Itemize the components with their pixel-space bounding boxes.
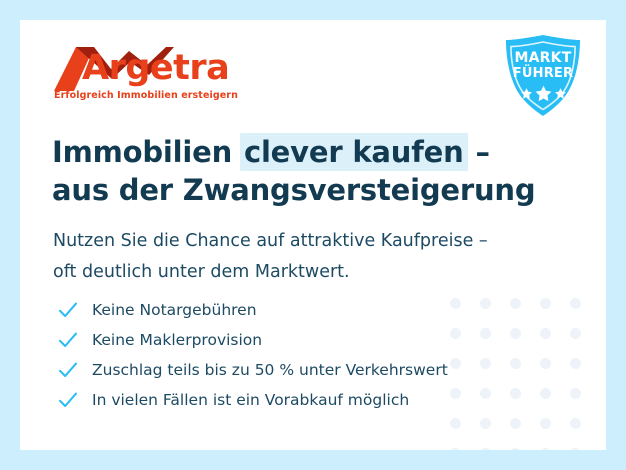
benefit-item: Zuschlag teils bis zu 50 % unter Verkehr… [58,360,448,380]
decoration-dot [540,448,551,459]
headline-text-before: Immobilien [52,135,242,169]
decoration-dot [480,298,491,309]
decoration-dot [480,388,491,399]
decoration-dot [480,358,491,369]
decoration-dot [450,358,461,369]
check-icon [58,332,78,348]
sub-copy-line-1: Nutzen Sie die Chance auf attraktive Kau… [53,226,488,257]
decoration-dot [570,448,581,459]
decoration-dot [510,328,521,339]
benefit-label: Keine Maklerprovision [92,330,262,350]
logo-wordmark: Argetra [82,45,229,91]
headline-text-after: – [466,135,490,169]
benefit-item: In vielen Fällen ist ein Vorabkauf mögli… [58,390,448,410]
logo-mark: Argetra [54,45,254,91]
decoration-dot [540,328,551,339]
decoration-dot [570,298,581,309]
decoration-dot [480,418,491,429]
sub-copy-line-2: oft deutlich unter dem Marktwert. [53,257,488,288]
decoration-dot [480,448,491,459]
decoration-dot [510,388,521,399]
decoration-dot [540,358,551,369]
check-icon [58,302,78,318]
dot-grid-decoration [450,298,600,470]
decoration-dot [480,328,491,339]
benefit-label: Zuschlag teils bis zu 50 % unter Verkehr… [92,360,448,380]
shield-icon [502,34,584,118]
decoration-dot [540,418,551,429]
check-icon [58,392,78,408]
benefits-list: Keine NotargebührenKeine Maklerprovision… [58,300,448,410]
headline-highlight: clever kaufen [240,133,468,171]
decoration-dot [510,448,521,459]
decoration-dot [450,388,461,399]
headline-line-2: aus der Zwangsversteigerung [52,171,535,209]
check-icon [58,362,78,378]
decoration-dot [570,388,581,399]
headline: Immobilien clever kaufen – aus der Zwang… [52,133,535,209]
market-leader-badge: MARKT FÜHRER [502,34,584,118]
decoration-dot [570,418,581,429]
decoration-dot [450,328,461,339]
decoration-dot [540,298,551,309]
decoration-dot [510,358,521,369]
decoration-dot [450,298,461,309]
decoration-dot [570,358,581,369]
decoration-dot [510,298,521,309]
headline-line-1: Immobilien clever kaufen – [52,133,535,171]
decoration-dot [510,418,521,429]
decoration-dot [450,448,461,459]
decoration-dot [540,388,551,399]
benefit-item: Keine Maklerprovision [58,330,448,350]
promo-banner: Argetra Erfolgreich Immobilien ersteiger… [0,0,626,470]
benefit-label: Keine Notargebühren [92,300,257,320]
benefit-item: Keine Notargebühren [58,300,448,320]
benefit-label: In vielen Fällen ist ein Vorabkauf mögli… [92,390,409,410]
decoration-dot [450,418,461,429]
decoration-dot [570,328,581,339]
sub-copy: Nutzen Sie die Chance auf attraktive Kau… [53,226,488,288]
argetra-logo[interactable]: Argetra Erfolgreich Immobilien ersteiger… [54,45,254,101]
